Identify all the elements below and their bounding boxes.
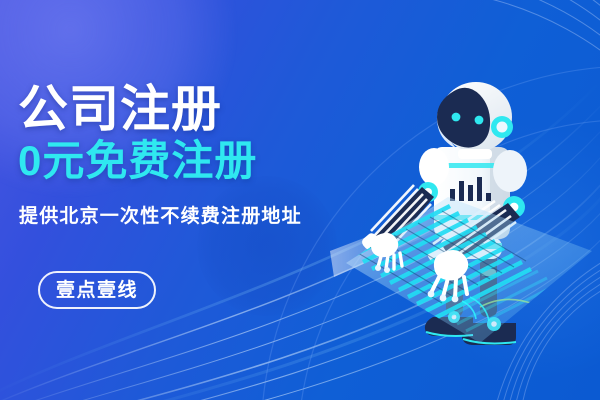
page-subtitle-accent: 0元免费注册 <box>18 140 257 182</box>
promo-banner: 公司注册 0元免费注册 提供北京一次性不续费注册地址 壹点壹线 <box>0 0 600 400</box>
robot-ear-core <box>497 122 508 133</box>
robot-neck <box>458 149 492 159</box>
robot-eye-left <box>452 113 461 122</box>
page-title: 公司注册 <box>18 84 222 134</box>
robot-eye-right <box>475 116 484 125</box>
brand-button[interactable]: 壹点壹线 <box>38 271 156 309</box>
page-description: 提供北京一次性不续费注册地址 <box>19 207 302 226</box>
robot-shoulder-left <box>419 148 449 186</box>
robot-illustration <box>330 55 600 365</box>
robot-shoulder-right <box>493 150 527 192</box>
banner-content: 公司注册 0元免费注册 提供北京一次性不续费注册地址 壹点壹线 <box>0 0 340 400</box>
brand-button-label: 壹点壹线 <box>56 281 138 300</box>
